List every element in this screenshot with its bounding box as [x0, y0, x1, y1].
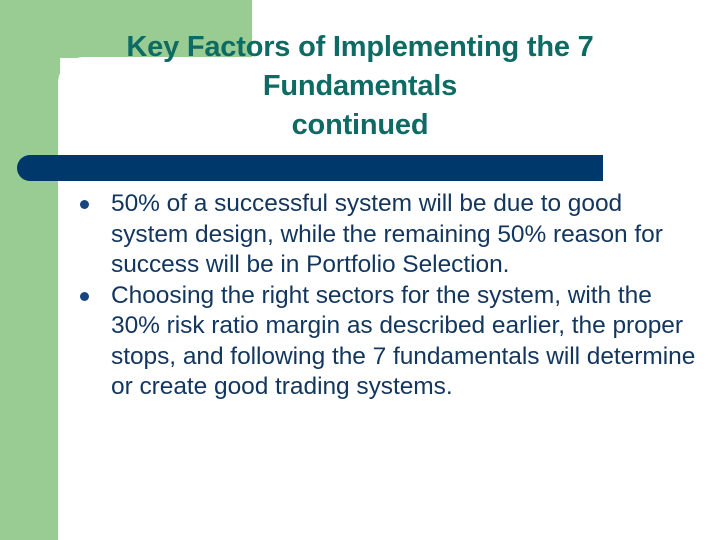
disc-bullet-icon [80, 292, 89, 301]
green-left-bar-decoration [0, 0, 60, 540]
slide-body-bullet-list: 50% of a successful system will be due t… [78, 189, 706, 403]
bullet-item-text: 50% of a successful system will be due t… [111, 189, 706, 281]
bullet-item-text: Choosing the right sectors for the syste… [111, 281, 706, 403]
slide-canvas: Key Factors of Implementing the 7 Fundam… [0, 0, 720, 540]
navy-title-underline-bar [17, 155, 603, 181]
slide-title: Key Factors of Implementing the 7 Fundam… [60, 28, 660, 145]
bullet-list-item: 50% of a successful system will be due t… [78, 189, 706, 281]
bullet-list-item: Choosing the right sectors for the syste… [78, 281, 706, 403]
disc-bullet-icon [80, 200, 89, 209]
